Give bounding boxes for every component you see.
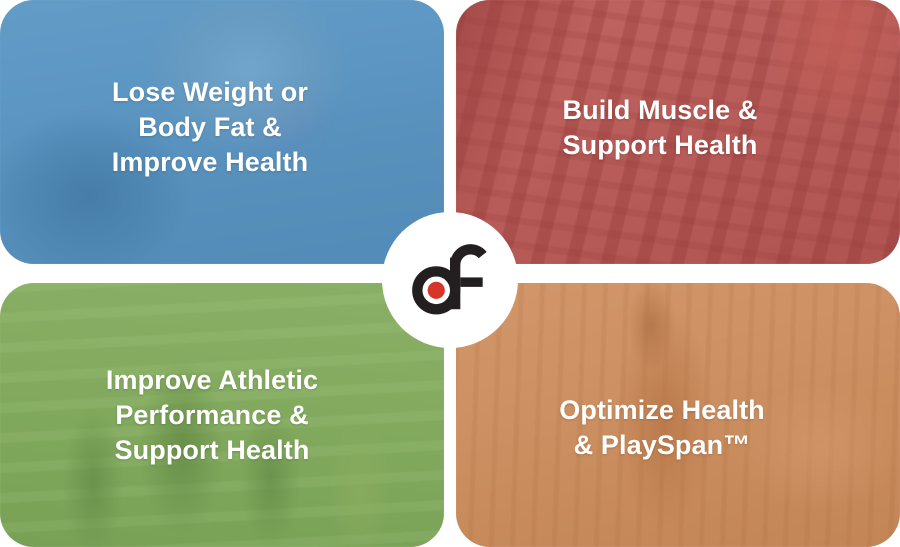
panel-caption-optimize-health: Optimize Health & PlaySpan™ <box>543 393 781 463</box>
panel-build-muscle[interactable]: Build Muscle & Support Health <box>456 0 900 264</box>
logo-f-crossbar <box>460 277 482 286</box>
panel-caption-build-muscle: Build Muscle & Support Health <box>547 93 774 163</box>
logo-stem <box>450 258 460 310</box>
panel-optimize-health[interactable]: Optimize Health & PlaySpan™ <box>456 283 900 547</box>
logo-badge[interactable] <box>382 212 518 348</box>
goal-grid: Lose Weight or Body Fat & Improve Health… <box>0 0 900 547</box>
logo-red-dot <box>428 282 445 299</box>
panel-athletic-performance[interactable]: Improve Athletic Performance & Support H… <box>0 283 444 547</box>
panel-lose-weight[interactable]: Lose Weight or Body Fat & Improve Health <box>0 0 444 264</box>
df-monogram-icon <box>407 237 493 323</box>
panel-caption-athletic-performance: Improve Athletic Performance & Support H… <box>90 363 334 468</box>
logo-f-hook <box>455 249 483 264</box>
panel-caption-lose-weight: Lose Weight or Body Fat & Improve Health <box>96 75 324 180</box>
